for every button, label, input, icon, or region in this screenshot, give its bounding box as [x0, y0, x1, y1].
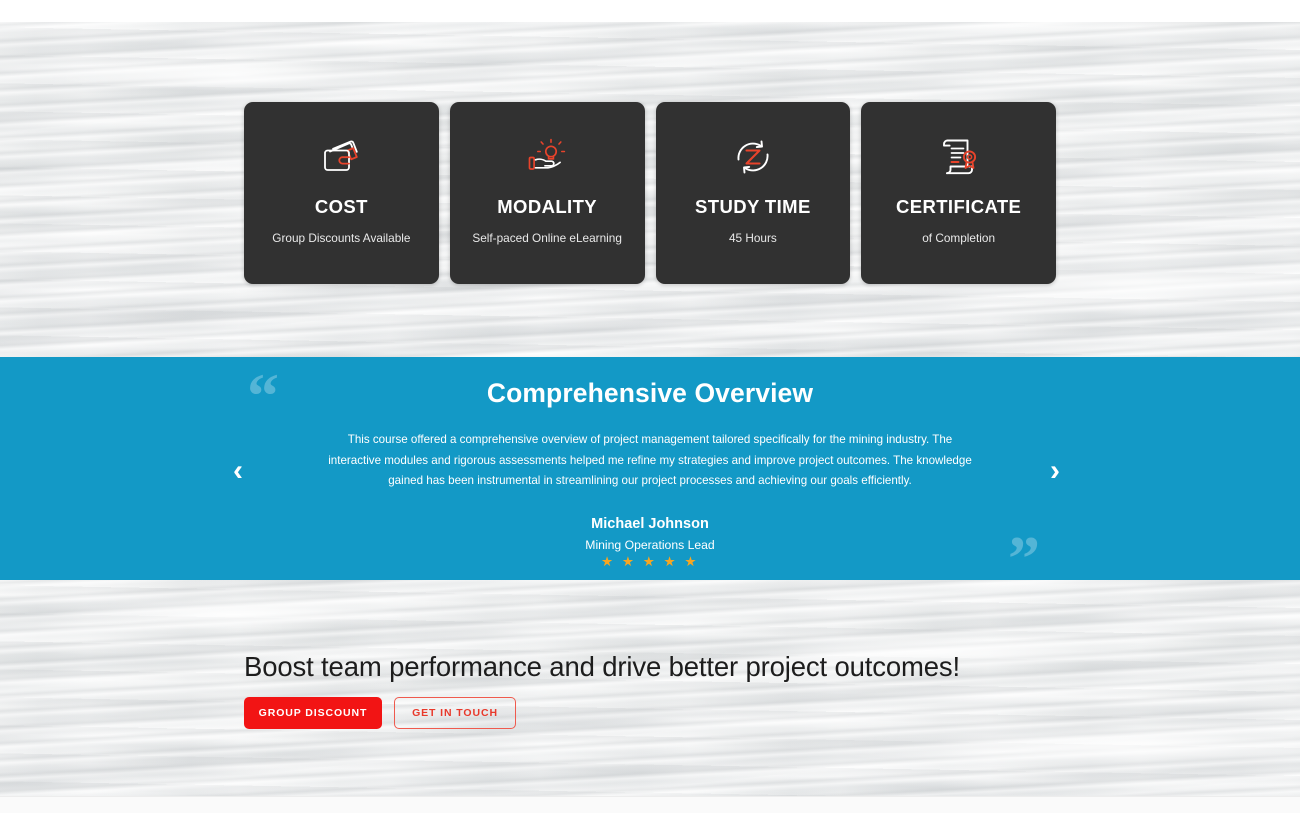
- testimonial-body: This course offered a comprehensive over…: [320, 430, 980, 492]
- top-white-band: [0, 0, 1300, 22]
- feature-card-subtitle: 45 Hours: [729, 231, 777, 245]
- testimonial-author-name: Michael Johnson: [0, 516, 1300, 532]
- feature-card-modality[interactable]: MODALITY Self-paced Online eLearning: [450, 102, 645, 284]
- stone-texture-lower: [0, 580, 1300, 796]
- certificate-scroll-icon: [938, 132, 980, 182]
- get-in-touch-button[interactable]: GET IN TOUCH: [394, 697, 516, 729]
- cta-heading: Boost team performance and drive better …: [244, 651, 960, 683]
- hand-lightbulb-icon: [525, 132, 569, 182]
- group-discount-button[interactable]: GROUP DISCOUNT: [244, 697, 382, 729]
- feature-card-cost[interactable]: COST Group Discounts Available: [244, 102, 439, 284]
- feature-card-study-time[interactable]: STUDY TIME 45 Hours: [656, 102, 851, 284]
- carousel-prev-arrow-icon[interactable]: ‹: [233, 456, 243, 486]
- wallet-icon: [320, 132, 362, 182]
- testimonial-author-role: Mining Operations Lead: [0, 538, 1300, 552]
- feature-card-subtitle: Self-paced Online eLearning: [472, 231, 622, 245]
- feature-card-subtitle: Group Discounts Available: [272, 231, 410, 245]
- feature-card-title: MODALITY: [497, 196, 597, 218]
- bottom-edge-band: [0, 796, 1300, 813]
- timer-refresh-icon: [732, 132, 774, 182]
- testimonial-title: Comprehensive Overview: [0, 378, 1300, 409]
- feature-card-title: COST: [315, 196, 368, 218]
- feature-card-subtitle: of Completion: [922, 231, 995, 245]
- feature-card-title: CERTIFICATE: [896, 196, 1021, 218]
- feature-card-title: STUDY TIME: [695, 196, 811, 218]
- page-root: COST Group Discounts Available MODALITY …: [0, 0, 1300, 813]
- carousel-next-arrow-icon[interactable]: ›: [1050, 456, 1060, 486]
- cta-button-group: GROUP DISCOUNT GET IN TOUCH: [244, 697, 516, 729]
- feature-card-certificate[interactable]: CERTIFICATE of Completion: [861, 102, 1056, 284]
- testimonial-star-rating: ★ ★ ★ ★ ★: [0, 554, 1300, 570]
- feature-cards-row: COST Group Discounts Available MODALITY …: [244, 102, 1056, 284]
